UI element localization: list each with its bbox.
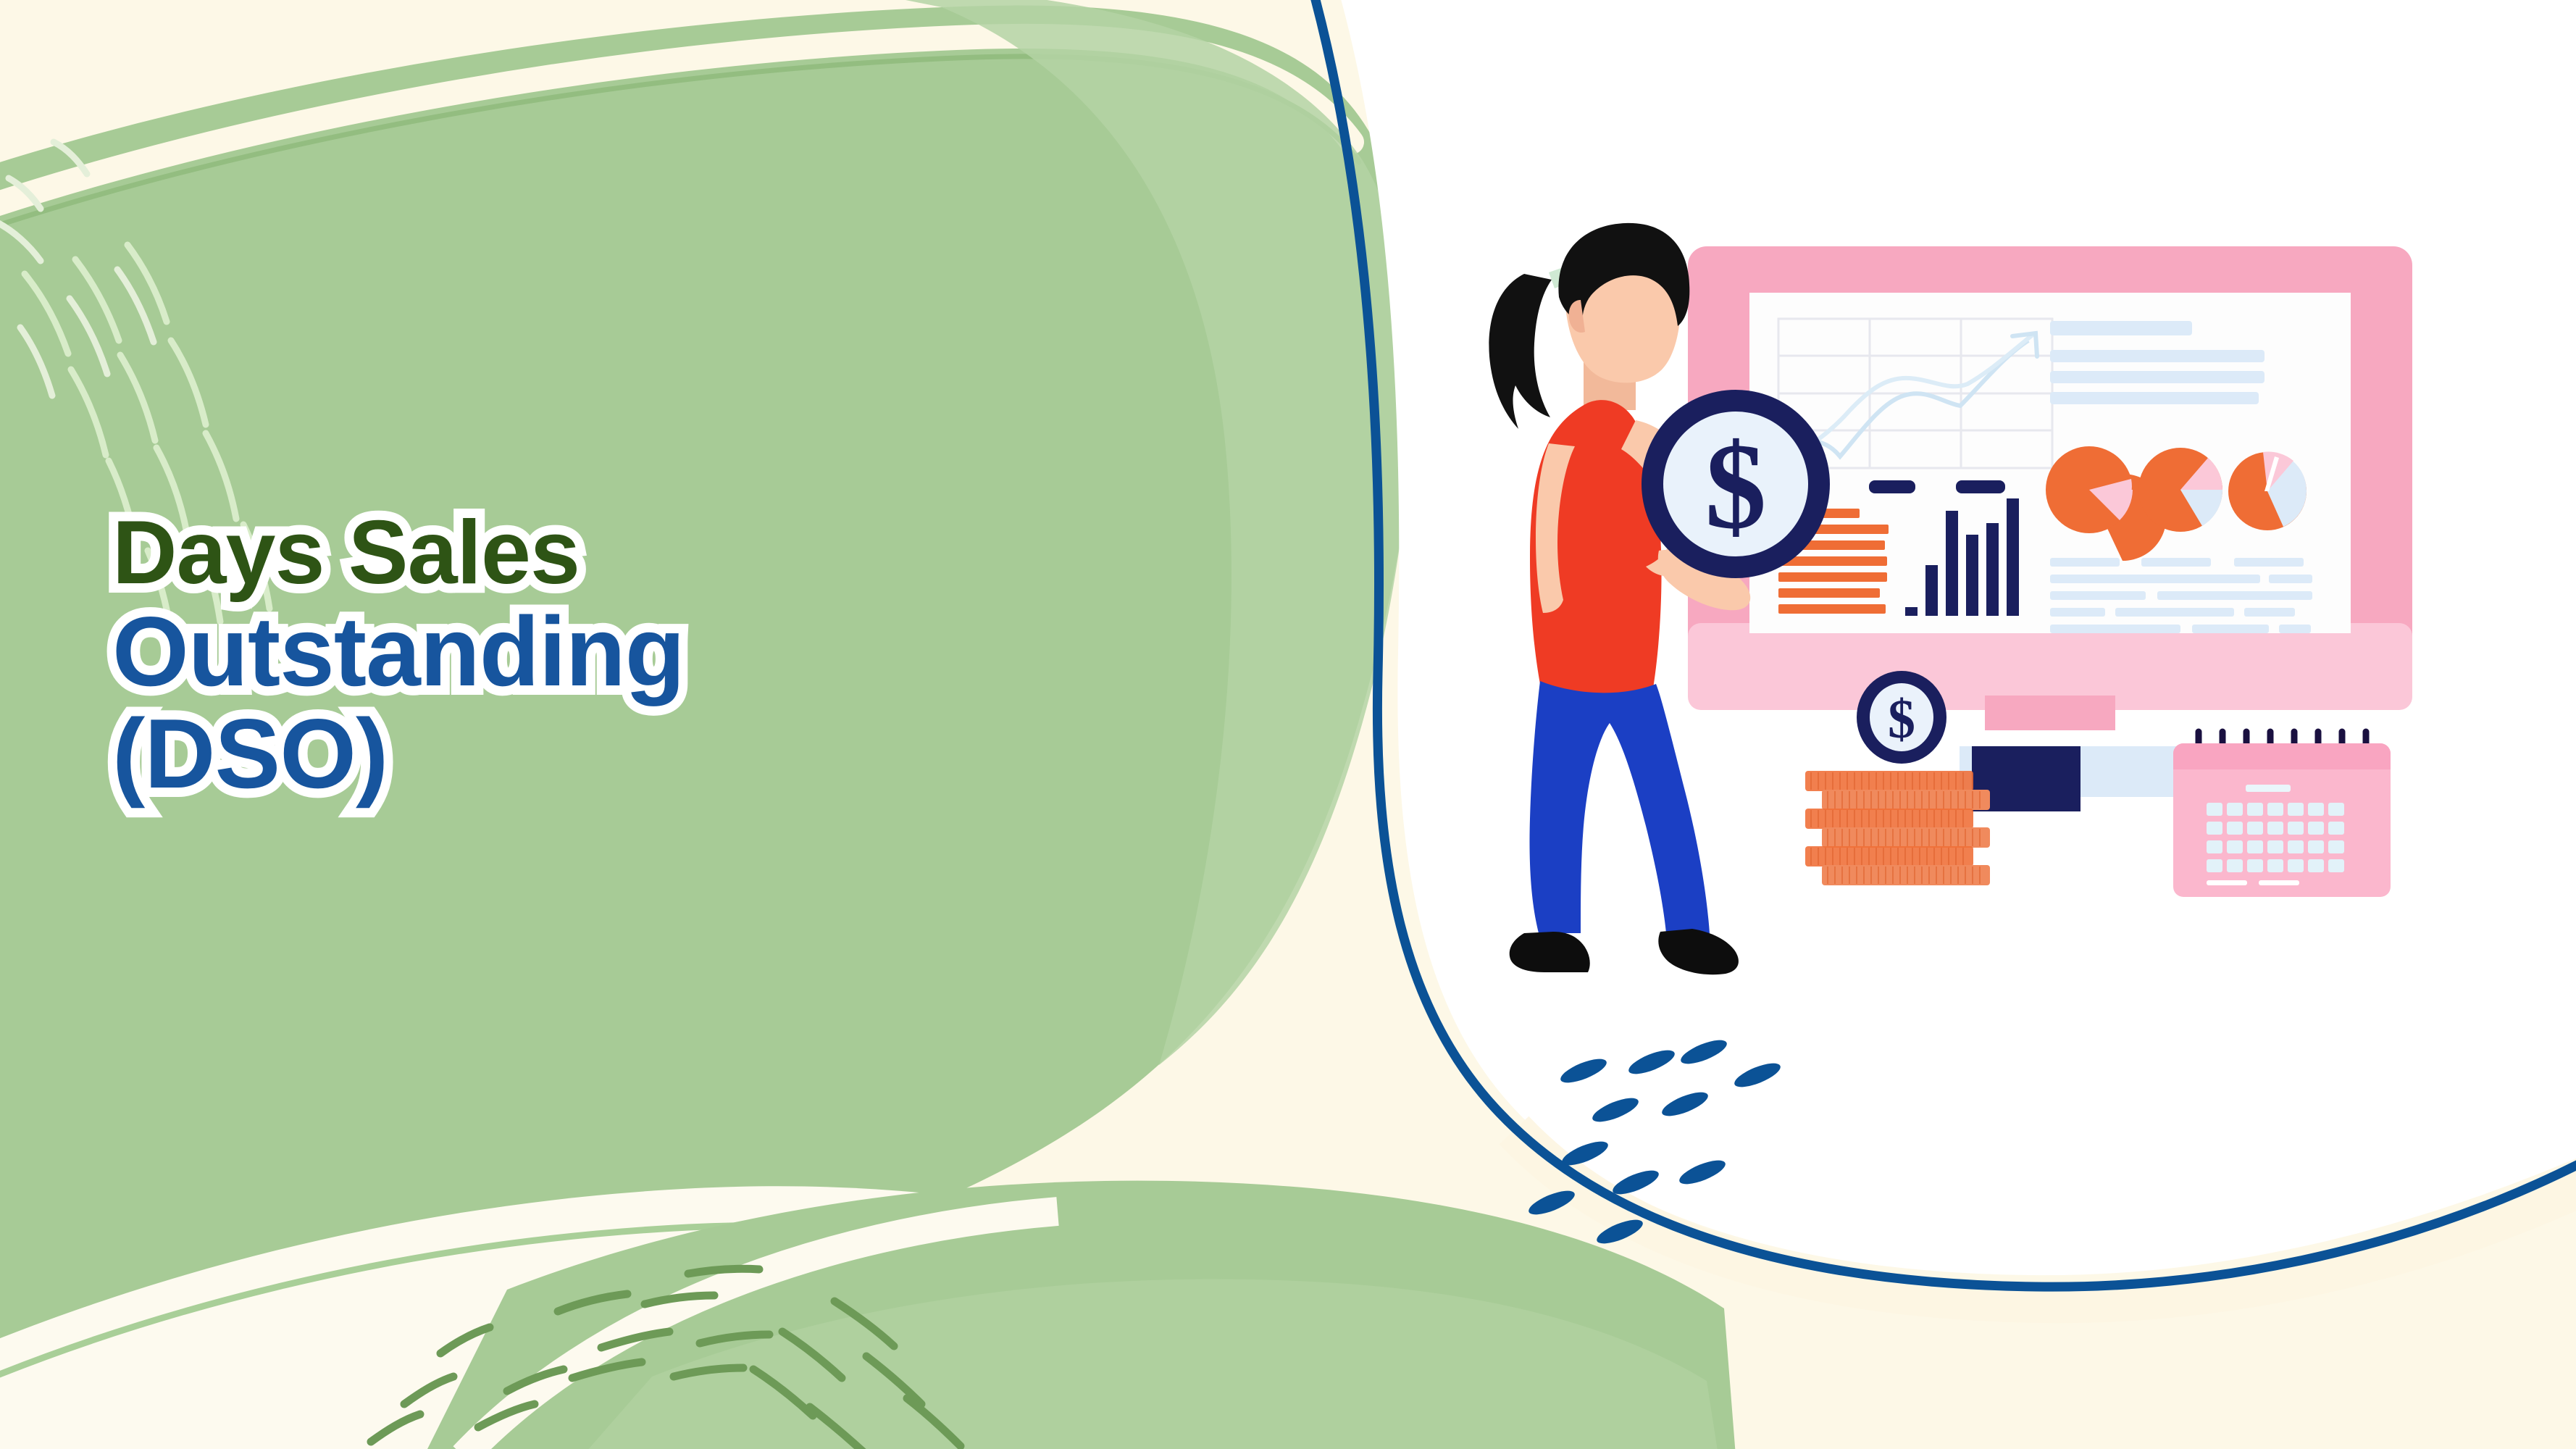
- calendar-title-bar: [2246, 785, 2291, 792]
- held-dollar-coin: $: [1642, 390, 1830, 578]
- pants: [1530, 681, 1710, 933]
- svg-text:$: $: [1705, 418, 1767, 554]
- banner-canvas: Days Sales Outstanding (DSO): [0, 0, 2576, 1449]
- monitor-stand: [1985, 696, 2115, 730]
- shoe-back: [1510, 932, 1590, 972]
- desk-dollar-coin: $: [1857, 671, 1946, 764]
- screen-pie-2: [2138, 448, 2222, 532]
- screen-pie-3: [2228, 451, 2307, 530]
- illustration-woman-analytics: $: [0, 0, 2576, 1449]
- hair-ponytail: [1489, 274, 1552, 429]
- wall-calendar: [2173, 732, 2391, 897]
- svg-text:$: $: [1888, 689, 1915, 750]
- shoe-front: [1658, 929, 1739, 974]
